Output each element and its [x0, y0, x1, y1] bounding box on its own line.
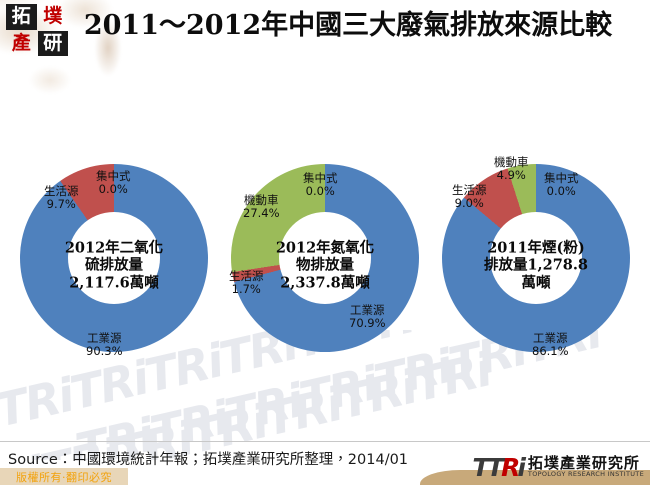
tri-logo-en: TOPOLOGY RESEARCH INSTITUTE: [528, 471, 644, 478]
slice-value: 27.4%: [243, 207, 280, 220]
donut-chart-dust-2011: 2011年煙(粉) 排放量1,278.8 萬噸 機動車 4.9% 集中式 0.0…: [436, 158, 636, 373]
brand-glyph-1: 拓: [6, 4, 37, 30]
slice-value: 0.0%: [303, 185, 338, 198]
tri-logo: TTRi 拓墣產業研究所 TOPOLOGY RESEARCH INSTITUTE: [472, 452, 644, 482]
copyright-bar: 版權所有‧翻印必究: [0, 468, 128, 485]
source-line: Source：中國環境統計年報；拓墣產業研究所整理，2014/01: [8, 448, 408, 469]
slice-name: 工業源: [86, 332, 123, 345]
slice-name: 集中式: [544, 172, 579, 185]
slice-label-centralized: 集中式 0.0%: [544, 172, 579, 198]
slice-label-industrial: 工業源 90.3%: [86, 332, 123, 358]
slice-label-centralized: 集中式 0.0%: [303, 172, 338, 198]
slice-name: 工業源: [532, 332, 569, 345]
slice-value: 4.9%: [494, 169, 529, 182]
donut-chart-so2-2012: 2012年二氧化 硫排放量 2,117.6萬噸 集中式 0.0% 生活源 9.7…: [14, 158, 214, 373]
slice-name: 生活源: [229, 270, 264, 283]
slice-value: 1.7%: [229, 283, 264, 296]
slice-label-domestic: 生活源 1.7%: [229, 270, 264, 296]
slice-label-industrial: 工業源 86.1%: [532, 332, 569, 358]
page-title: 2011～2012年中國三大廢氣排放來源比較: [78, 8, 618, 44]
slice-label-vehicle: 機動車 4.9%: [494, 156, 529, 182]
slice-label-centralized: 集中式 0.0%: [96, 170, 131, 196]
charts-row: 2012年二氧化 硫排放量 2,117.6萬噸 集中式 0.0% 生活源 9.7…: [0, 158, 650, 373]
donut-chart-nox-2012: 2012年氮氧化 物排放量 2,337.8萬噸 集中式 0.0% 機動車 27.…: [225, 158, 425, 373]
slice-value: 0.0%: [544, 185, 579, 198]
slice-name: 生活源: [452, 184, 487, 197]
slice-value: 9.7%: [44, 198, 79, 211]
donut-hole: [490, 212, 582, 304]
brand-logo: 拓 墣 產 研: [6, 4, 68, 56]
donut-hole: [279, 212, 371, 304]
tri-logo-zh: 拓墣產業研究所: [528, 456, 644, 472]
slice-value: 90.3%: [86, 345, 123, 358]
slice-label-domestic: 生活源 9.7%: [44, 185, 79, 211]
donut-hole: [68, 212, 160, 304]
footer-divider: [0, 441, 650, 442]
slice-label-domestic: 生活源 9.0%: [452, 184, 487, 210]
slice-name: 集中式: [303, 172, 338, 185]
slice-name: 工業源: [349, 304, 386, 317]
tri-logo-mark: TTRi: [472, 455, 523, 480]
brand-glyph-2: 墣: [38, 4, 69, 30]
brand-glyph-3: 產: [6, 31, 37, 57]
slice-value: 70.9%: [349, 317, 386, 330]
slice-name: 機動車: [494, 156, 529, 169]
copyright-text: 版權所有‧翻印必究: [16, 469, 112, 485]
brand-glyph-4: 研: [38, 31, 69, 57]
slice-value: 9.0%: [452, 197, 487, 210]
slice-name: 機動車: [243, 194, 280, 207]
slice-label-industrial: 工業源 70.9%: [349, 304, 386, 330]
slice-label-vehicle: 機動車 27.4%: [243, 194, 280, 220]
slice-name: 生活源: [44, 185, 79, 198]
slice-name: 集中式: [96, 170, 131, 183]
slice-value: 0.0%: [96, 183, 131, 196]
slice-value: 86.1%: [532, 345, 569, 358]
